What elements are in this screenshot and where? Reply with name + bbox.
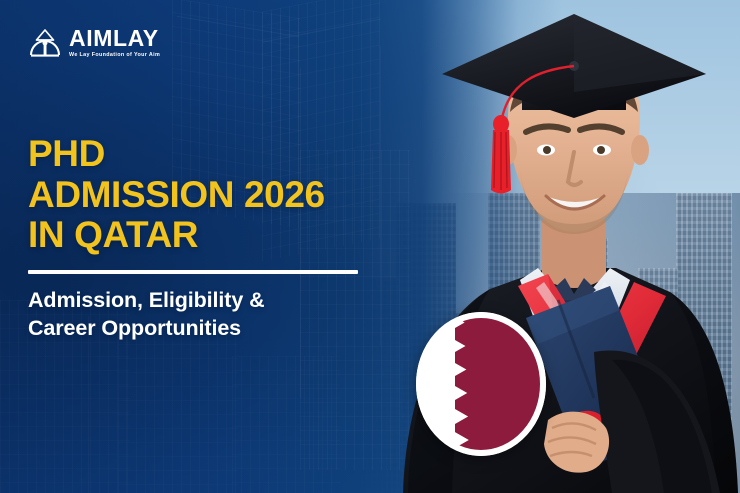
page-subtitle: Admission, Eligibility & Career Opportun… — [28, 287, 428, 343]
brand-name: AIMLAY — [69, 27, 160, 50]
headline-block: PHD ADMISSION 2026 IN QATAR Admission, E… — [28, 134, 428, 343]
aimlay-logo[interactable]: AIMLAY We Lay Foundation of Your Aim — [28, 27, 160, 59]
qatar-flag-circle-badge — [415, 312, 547, 456]
aimlay-arch-logo-icon — [28, 27, 62, 59]
title-divider — [28, 270, 358, 274]
phd-admission-qatar-banner: AIMLAY We Lay Foundation of Your Aim PHD… — [0, 0, 740, 493]
brand-tagline: We Lay Foundation of Your Aim — [69, 53, 160, 58]
page-title: PHD ADMISSION 2026 IN QATAR — [28, 134, 428, 256]
